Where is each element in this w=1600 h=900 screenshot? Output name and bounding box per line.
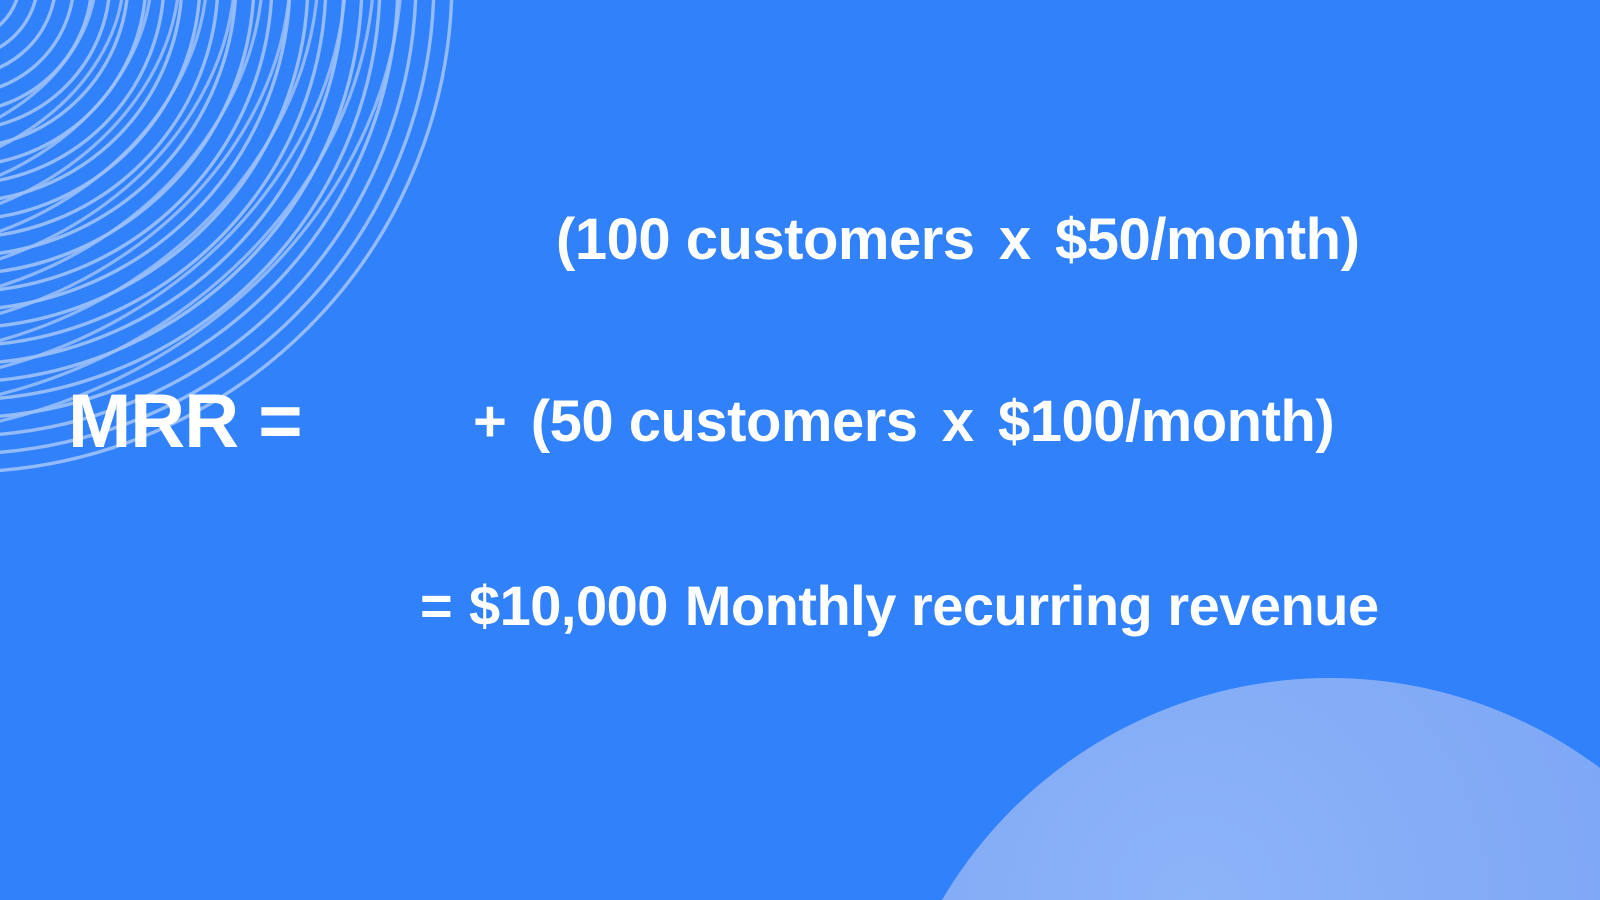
line-2-price: $100/month [998, 389, 1315, 454]
result-description: Monthly recurring revenue [685, 574, 1379, 637]
line-2-quantity: 50 customers [550, 389, 918, 454]
equation-lines: (100 customersx$50/month) +(50 customers… [340, 0, 1600, 900]
equation-result-line: =$10,000Monthly recurring revenue [420, 578, 1379, 634]
line-1-quantity: 100 customers [575, 207, 975, 272]
mrr-formula-graphic: MRR = (100 customersx$50/month) +(50 cus… [0, 0, 1600, 900]
line-2-close-paren: ) [1315, 389, 1334, 454]
formula-block: MRR = (100 customersx$50/month) +(50 cus… [0, 0, 1600, 900]
line-2-times-operator: x [942, 393, 974, 451]
line-2-plus-operator: + [473, 393, 506, 451]
result-amount: $10,000 [469, 574, 668, 637]
line-1-open-paren: ( [556, 211, 575, 269]
line-2-open-paren: ( [531, 393, 550, 451]
line-1-close-paren: ) [1341, 207, 1360, 272]
result-equals-operator: = [420, 578, 452, 634]
equation-line-1: (100 customersx$50/month) [556, 211, 1359, 269]
equation-line-2: +(50 customersx$100/month) [473, 393, 1334, 451]
mrr-label: MRR = [68, 384, 302, 460]
line-1-times-operator: x [999, 211, 1031, 269]
line-1-price: $50/month [1055, 207, 1341, 272]
